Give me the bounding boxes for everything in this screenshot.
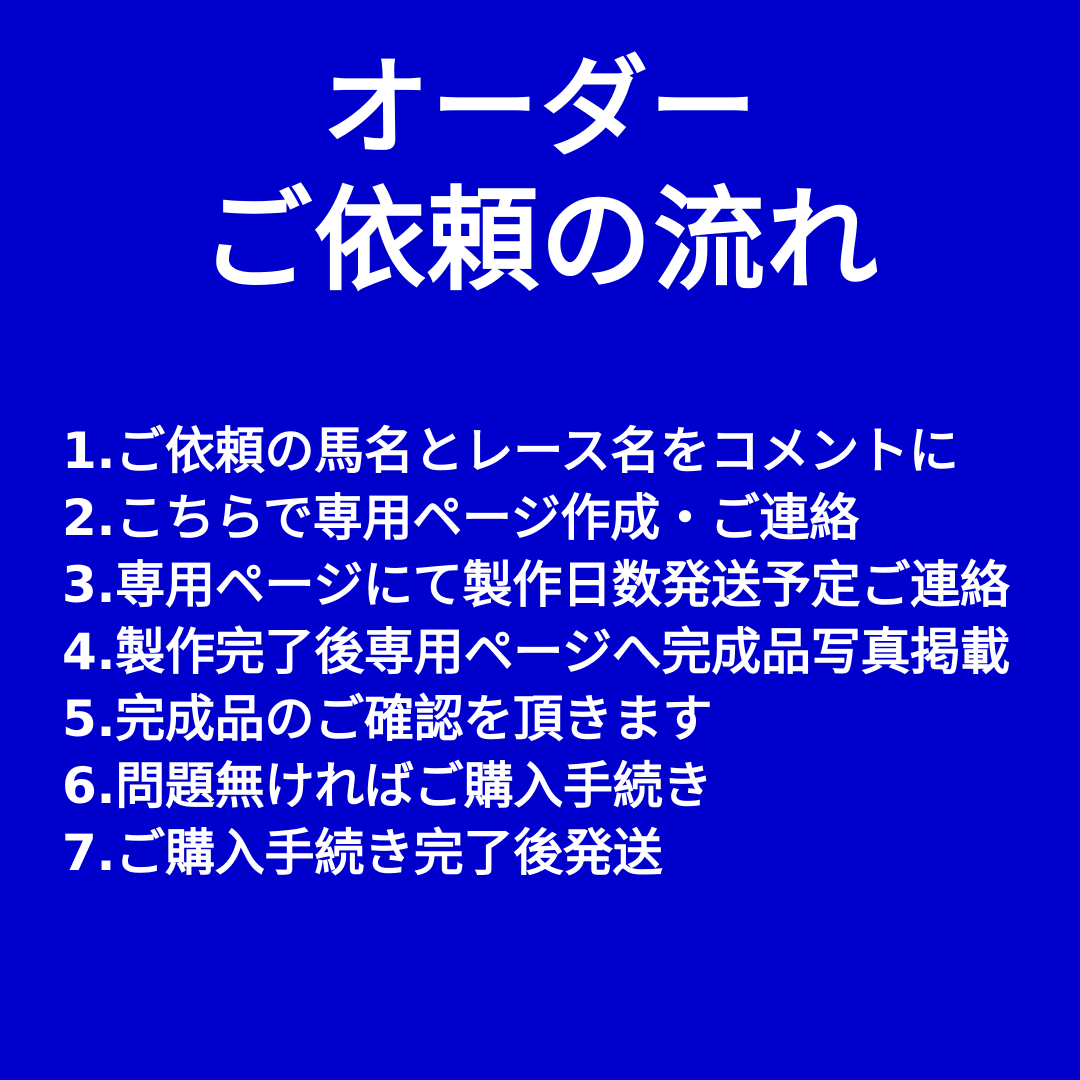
step-text: 製作完了後専用ページへ完成品写真掲載 xyxy=(115,623,1010,681)
list-item: 5.完成品のご確認を頂きます xyxy=(62,686,1022,753)
step-text: ご購入手続き完了後発送 xyxy=(115,824,662,882)
title-block: オーダー ご依頼の流れ xyxy=(0,52,1080,301)
step-number: 2. xyxy=(62,489,115,547)
step-text: 完成品のご確認を頂きます xyxy=(115,690,712,748)
list-item: 4.製作完了後専用ページへ完成品写真掲載 xyxy=(62,619,1022,686)
page-title-line-1: オーダー xyxy=(0,52,1080,166)
step-number: 5. xyxy=(62,690,115,748)
list-item: 6.問題無ければご購入手続き xyxy=(62,753,1022,820)
list-item: 1.ご依頼の馬名とレース名をコメントに xyxy=(62,418,1022,485)
list-item: 2.こちらで専用ページ作成・ご連絡 xyxy=(62,485,1022,552)
list-item: 3.専用ページにて製作日数発送予定ご連絡 xyxy=(62,552,1022,619)
poster-canvas: オーダー ご依頼の流れ 1.ご依頼の馬名とレース名をコメントに 2.こちらで専用… xyxy=(0,0,1080,1080)
step-number: 1. xyxy=(62,422,115,480)
step-text: 問題無ければご購入手続き xyxy=(115,757,712,815)
page-title-line-2: ご依頼の流れ xyxy=(0,182,1080,301)
step-number: 7. xyxy=(62,824,115,882)
step-number: 3. xyxy=(62,556,115,614)
step-number: 4. xyxy=(62,623,115,681)
step-text: 専用ページにて製作日数発送予定ご連絡 xyxy=(115,556,1010,614)
steps-list: 1.ご依頼の馬名とレース名をコメントに 2.こちらで専用ページ作成・ご連絡 3.… xyxy=(62,418,1022,887)
step-number: 6. xyxy=(62,757,115,815)
list-item: 7.ご購入手続き完了後発送 xyxy=(62,820,1022,887)
step-text: ご依頼の馬名とレース名をコメントに xyxy=(115,422,958,480)
step-text: こちらで専用ページ作成・ご連絡 xyxy=(115,489,859,547)
